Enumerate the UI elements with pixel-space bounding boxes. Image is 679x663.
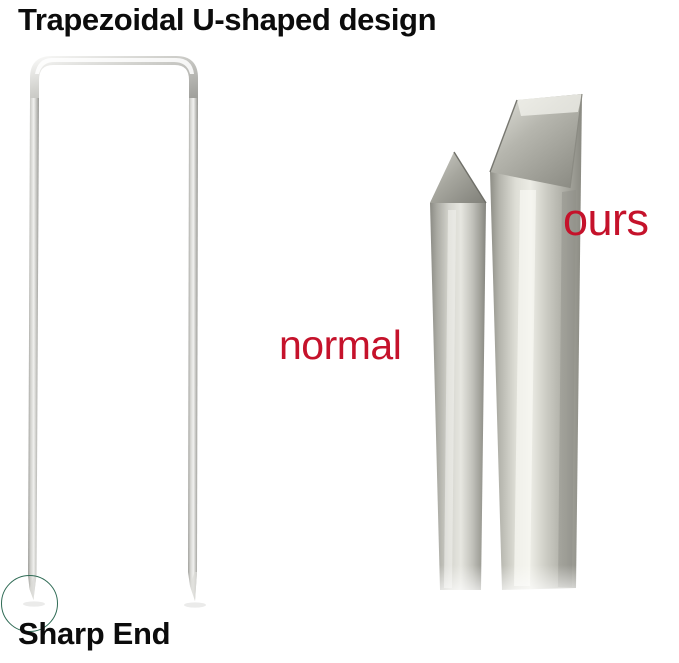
stake-left-leg	[28, 98, 39, 600]
normal-rod-body	[430, 152, 486, 590]
product-image: Trapezoidal U-shaped design	[0, 0, 679, 663]
stake-top-highlight	[35, 58, 194, 74]
sharp-end-label: Sharp End	[18, 616, 170, 652]
label-normal: normal	[279, 322, 401, 369]
normal-rod	[430, 152, 486, 590]
stake-right-tip-shadow	[184, 602, 206, 607]
u-shaped-stake-illustration	[0, 0, 240, 640]
label-ours: ours	[563, 194, 649, 246]
stake-right-leg	[188, 98, 198, 601]
ours-rod	[490, 94, 582, 590]
rod-comparison-illustration	[380, 60, 679, 605]
stake-top-bar	[30, 56, 198, 100]
u-stake-svg	[0, 0, 240, 640]
rods-bottom-fade	[410, 565, 610, 605]
rods-svg	[380, 60, 679, 605]
